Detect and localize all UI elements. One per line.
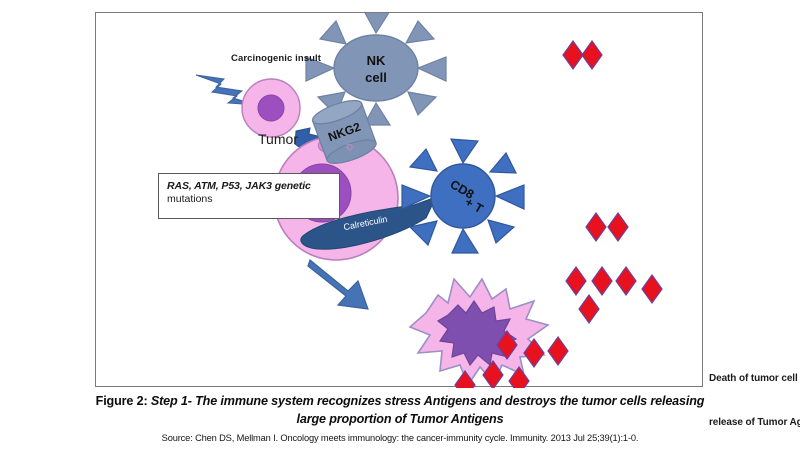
- dying-tumor-cell: [410, 279, 548, 385]
- carcinogenic-insult-label: Carcinogenic insult: [231, 53, 321, 65]
- nk-cell-label-line1: NK: [367, 53, 386, 68]
- tumor-antigen-diamonds-upper: [566, 213, 662, 323]
- diagram-frame: NK cell NKG2 D: [95, 12, 703, 387]
- genetic-mutations-line1: RAS, ATM, P53, JAK3 genetic: [167, 180, 331, 192]
- genetic-mutations-line2: mutations: [167, 193, 331, 205]
- figure-number-label: Figure 2:: [96, 394, 148, 408]
- figure-root: NK cell NKG2 D: [0, 0, 800, 450]
- tumor-label: Tumor: [258, 131, 298, 149]
- figure-caption-text: Step 1- The immune system recognizes str…: [148, 394, 705, 426]
- figure-caption-block: Figure 2: Step 1- The immune system reco…: [0, 392, 800, 443]
- killing-arrow-icon: [308, 260, 368, 309]
- nk-cell: NK cell: [334, 35, 418, 101]
- genetic-mutations-box: RAS, ATM, P53, JAK3 genetic mutations: [158, 173, 340, 219]
- diagram-canvas: NK cell NKG2 D: [96, 13, 702, 386]
- nk-cell-label-line2: cell: [365, 70, 387, 85]
- cd8-t-cell: CD8 + T: [431, 164, 495, 228]
- small-tumor-cell: [242, 79, 300, 137]
- figure-source-line: Source: Chen DS, Mellman I. Oncology mee…: [0, 433, 800, 443]
- death-label-line1: Death of tumor cell +: [709, 372, 800, 387]
- figure-caption: Figure 2: Step 1- The immune system reco…: [0, 392, 800, 429]
